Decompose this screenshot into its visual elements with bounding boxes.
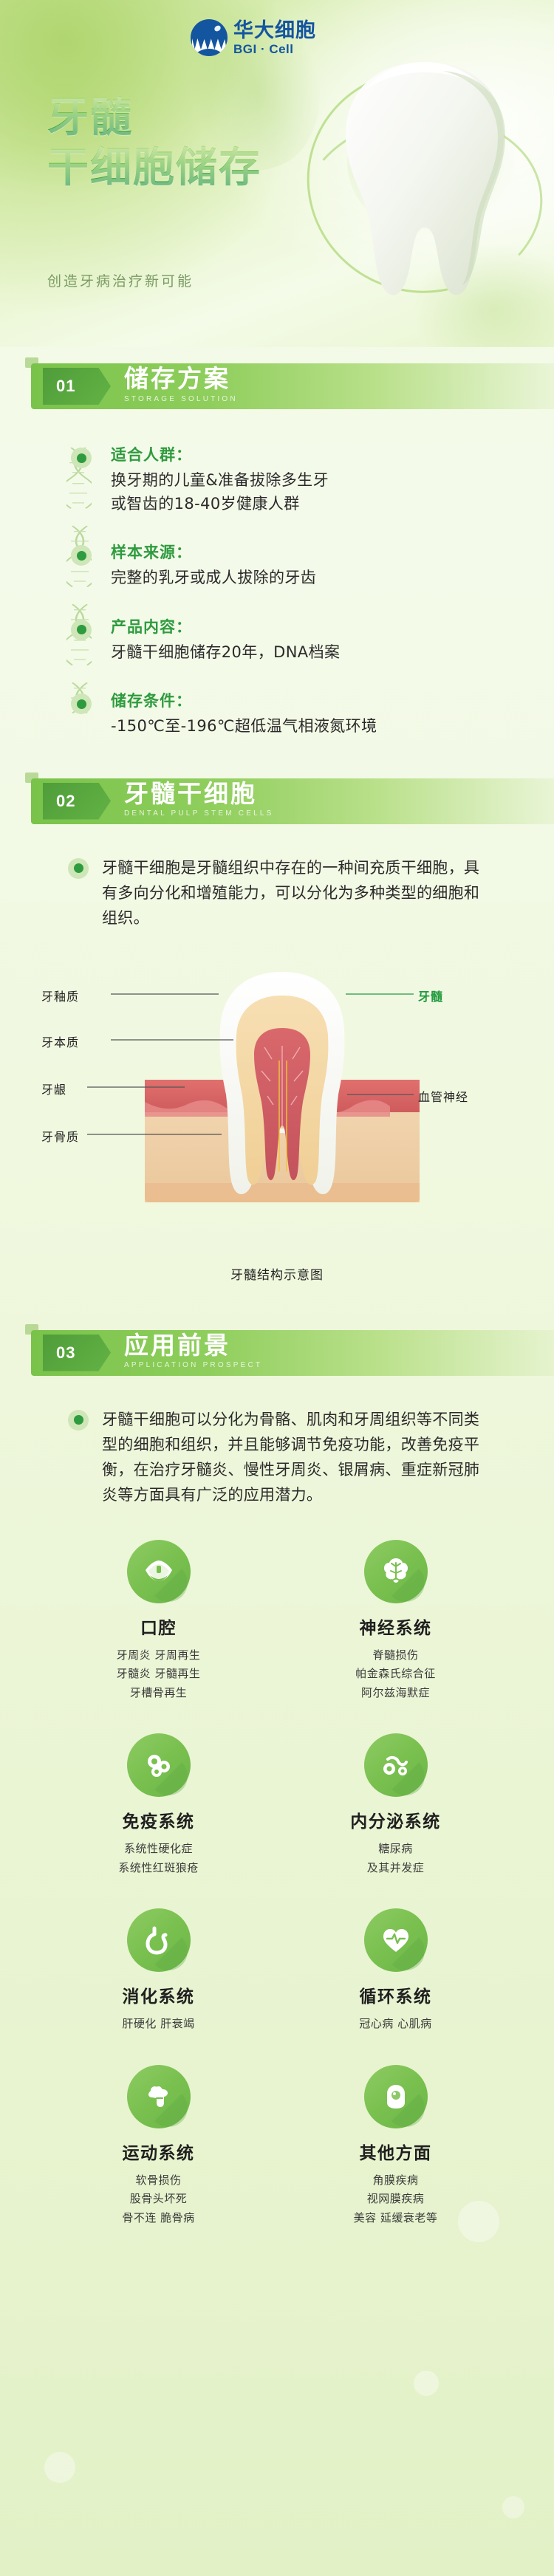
application-grid: 口腔 牙周炎 牙周再生 牙髓炎 牙髓再生 牙槽骨再生 神经系统 脊髓损伤 帕金森… — [40, 1540, 514, 2228]
anatomy-label-vessel-nerve: 血管神经 — [418, 1087, 468, 1105]
list-bullet-icon — [68, 1410, 89, 1431]
endocrine-icon — [364, 1733, 428, 1797]
section-title-cn: 储存方案 — [124, 365, 238, 393]
section-number: 01 — [56, 377, 75, 396]
heart-icon — [364, 1908, 428, 1972]
item-label: 适合人群： — [111, 443, 511, 465]
section-title-en: STORAGE SOLUTION — [124, 395, 238, 403]
bone-joint-icon — [127, 2065, 191, 2128]
application-card-motor: 运动系统 软骨损伤 股骨头坏死 骨不连 脆骨病 — [40, 2065, 277, 2228]
item-text: 或智齿的18-40岁健康人群 — [111, 493, 511, 516]
application-detail: 牙髓炎 牙髓再生 — [40, 1665, 277, 1684]
application-detail: 阿尔兹海默症 — [277, 1684, 514, 1703]
list-item: 适合人群： 换牙期的儿童&准备拔除多生牙 或智齿的18-40岁健康人群 — [68, 443, 511, 515]
hero-title-line2: 干细胞储存 — [47, 143, 261, 193]
application-title: 消化系统 — [40, 1982, 277, 2007]
section-number-badge: 03 — [43, 1335, 111, 1371]
tooth-cross-section-illustration — [0, 950, 554, 1245]
section-title-en: APPLICATION PROSPECT — [124, 1361, 262, 1369]
application-detail: 美容 延缓衰老等 — [277, 2209, 514, 2228]
application-detail: 股骨头坏死 — [40, 2190, 277, 2209]
item-text: 完整的乳牙或成人拔除的牙齿 — [111, 566, 511, 590]
application-detail: 系统性硬化症 — [40, 1840, 277, 1859]
application-card-circulatory: 循环系统 冠心病 心肌病 — [277, 1908, 514, 2034]
section-header-application: 03 应用前景 APPLICATION PROSPECT — [0, 1321, 554, 1385]
section-title-en: DENTAL PULP STEM CELLS — [124, 809, 273, 818]
application-detail: 肝硬化 肝衰竭 — [40, 2015, 277, 2034]
bokeh-decoration — [502, 2496, 524, 2518]
application-detail: 骨不连 脆骨病 — [40, 2209, 277, 2228]
bokeh-decoration — [44, 2452, 75, 2483]
paragraph-text: 牙髓干细胞是牙髓组织中存在的一种间充质干细胞，具有多向分化和增殖能力，可以分化为… — [102, 855, 485, 931]
hero-banner: 华大细胞 BGI · Cell 牙髓 干细胞储存 创造牙病治疗新可能 — [0, 0, 554, 347]
application-detail: 视网膜疾病 — [277, 2190, 514, 2209]
brand-name-en: BGI · Cell — [233, 43, 316, 55]
application-detail: 角膜疾病 — [277, 2171, 514, 2190]
application-card-nervous: 神经系统 脊髓损伤 帕金森氏综合征 阿尔兹海默症 — [277, 1540, 514, 1703]
item-label: 储存条件： — [111, 689, 511, 711]
application-detail: 帕金森氏综合征 — [277, 1665, 514, 1684]
list-item: 产品内容： 牙髓干细胞储存20年，DNA档案 — [68, 615, 511, 665]
item-label: 样本来源： — [111, 541, 511, 563]
paragraph-text: 牙髓干细胞可以分化为骨骼、肌肉和牙周组织等不同类型的细胞和组织，并且能够调节免疫… — [102, 1407, 485, 1507]
mouth-icon — [127, 1540, 191, 1603]
application-detail: 糖尿病 — [277, 1840, 514, 1859]
infographic-page: 华大细胞 BGI · Cell 牙髓 干细胞储存 创造牙病治疗新可能 01 储存… — [0, 0, 554, 2576]
application-title: 循环系统 — [277, 1982, 514, 2007]
list-bullet-icon — [71, 693, 92, 714]
section-header-storage: 01 储存方案 STORAGE SOLUTION — [0, 354, 554, 418]
page-title: 牙髓 干细胞储存 — [47, 93, 261, 194]
application-card-other: 其他方面 角膜疾病 视网膜疾病 美容 延缓衰老等 — [277, 2065, 514, 2228]
application-title: 其他方面 — [277, 2139, 514, 2164]
section-number: 03 — [56, 1343, 75, 1363]
hero-tooth-illustration — [303, 49, 547, 322]
section-header-stemcells: 02 牙髓干细胞 DENTAL PULP STEM CELLS — [0, 770, 554, 833]
application-title: 神经系统 — [277, 1614, 514, 1639]
application-title: 运动系统 — [40, 2139, 277, 2164]
bgi-globe-icon — [191, 19, 228, 56]
application-detail: 及其并发症 — [277, 1859, 514, 1878]
application-title: 口腔 — [40, 1614, 277, 1639]
application-detail: 脊髓损伤 — [277, 1646, 514, 1665]
item-label: 产品内容： — [111, 615, 511, 637]
immune-cell-icon — [127, 1733, 191, 1797]
list-bullet-icon — [68, 858, 89, 879]
anatomy-label-enamel: 牙釉质 — [41, 987, 79, 1004]
item-text: 牙髓干细胞储存20年，DNA档案 — [111, 641, 511, 665]
section-number-badge: 01 — [43, 368, 111, 405]
anatomy-label-gum: 牙龈 — [41, 1080, 66, 1097]
brain-icon — [364, 1540, 428, 1603]
hero-tagline: 创造牙病治疗新可能 — [47, 270, 194, 290]
application-detail: 牙周炎 牙周再生 — [40, 1646, 277, 1665]
section-number: 02 — [56, 792, 75, 811]
application-detail: 系统性红斑狼疮 — [40, 1859, 277, 1878]
application-card-immune: 免疫系统 系统性硬化症 系统性红斑狼疮 — [40, 1733, 277, 1877]
item-text: -150℃至-196℃超低温气相液氮环境 — [111, 715, 511, 739]
list-bullet-icon — [71, 545, 92, 566]
section-title-cn: 牙髓干细胞 — [124, 780, 273, 808]
list-bullet-icon — [71, 448, 92, 468]
application-detail: 冠心病 心肌病 — [277, 2015, 514, 2034]
tooth-icon — [332, 56, 517, 300]
brand-name-cn: 华大细胞 — [233, 21, 316, 41]
list-item: 样本来源： 完整的乳牙或成人拔除的牙齿 — [68, 541, 511, 590]
anatomy-label-cementum: 牙骨质 — [41, 1127, 79, 1145]
section-title-cn: 应用前景 — [124, 1332, 262, 1360]
application-description: 牙髓干细胞可以分化为骨骼、肌肉和牙周组织等不同类型的细胞和组织，并且能够调节免疫… — [69, 1407, 485, 1507]
application-card-mouth: 口腔 牙周炎 牙周再生 牙髓炎 牙髓再生 牙槽骨再生 — [40, 1540, 277, 1703]
anatomy-label-pulp: 牙髓 — [418, 987, 443, 1004]
hero-title-line1: 牙髓 — [47, 93, 261, 143]
application-title: 内分泌系统 — [277, 1807, 514, 1832]
storage-solution-body: 适合人群： 换牙期的儿童&准备拔除多生牙 或智齿的18-40岁健康人群 样本来源… — [0, 418, 554, 762]
section-number-badge: 02 — [43, 783, 111, 820]
application-card-digestive: 消化系统 肝硬化 肝衰竭 — [40, 1908, 277, 2034]
other-icon — [364, 2065, 428, 2128]
application-card-endocrine: 内分泌系统 糖尿病 及其并发症 — [277, 1733, 514, 1877]
tooth-anatomy-diagram: 牙釉质 牙本质 牙龈 牙骨质 牙髓 血管神经 — [0, 950, 554, 1260]
storage-item-list: 适合人群： 换牙期的儿童&准备拔除多生牙 或智齿的18-40岁健康人群 样本来源… — [68, 443, 511, 739]
anatomy-label-dentin: 牙本质 — [41, 1032, 79, 1050]
item-text: 换牙期的儿童&准备拔除多生牙 — [111, 469, 511, 493]
application-detail: 软骨损伤 — [40, 2171, 277, 2190]
application-title: 免疫系统 — [40, 1807, 277, 1832]
diagram-caption: 牙髓结构示意图 — [0, 1264, 554, 1283]
bokeh-decoration — [414, 2371, 439, 2396]
list-bullet-icon — [71, 620, 92, 640]
stomach-icon — [127, 1908, 191, 1972]
list-item: 储存条件： -150℃至-196℃超低温气相液氮环境 — [68, 689, 511, 739]
brand-logo: 华大细胞 BGI · Cell — [191, 19, 316, 56]
application-detail: 牙槽骨再生 — [40, 1684, 277, 1703]
stemcell-description: 牙髓干细胞是牙髓组织中存在的一种间充质干细胞，具有多向分化和增殖能力，可以分化为… — [69, 855, 485, 931]
